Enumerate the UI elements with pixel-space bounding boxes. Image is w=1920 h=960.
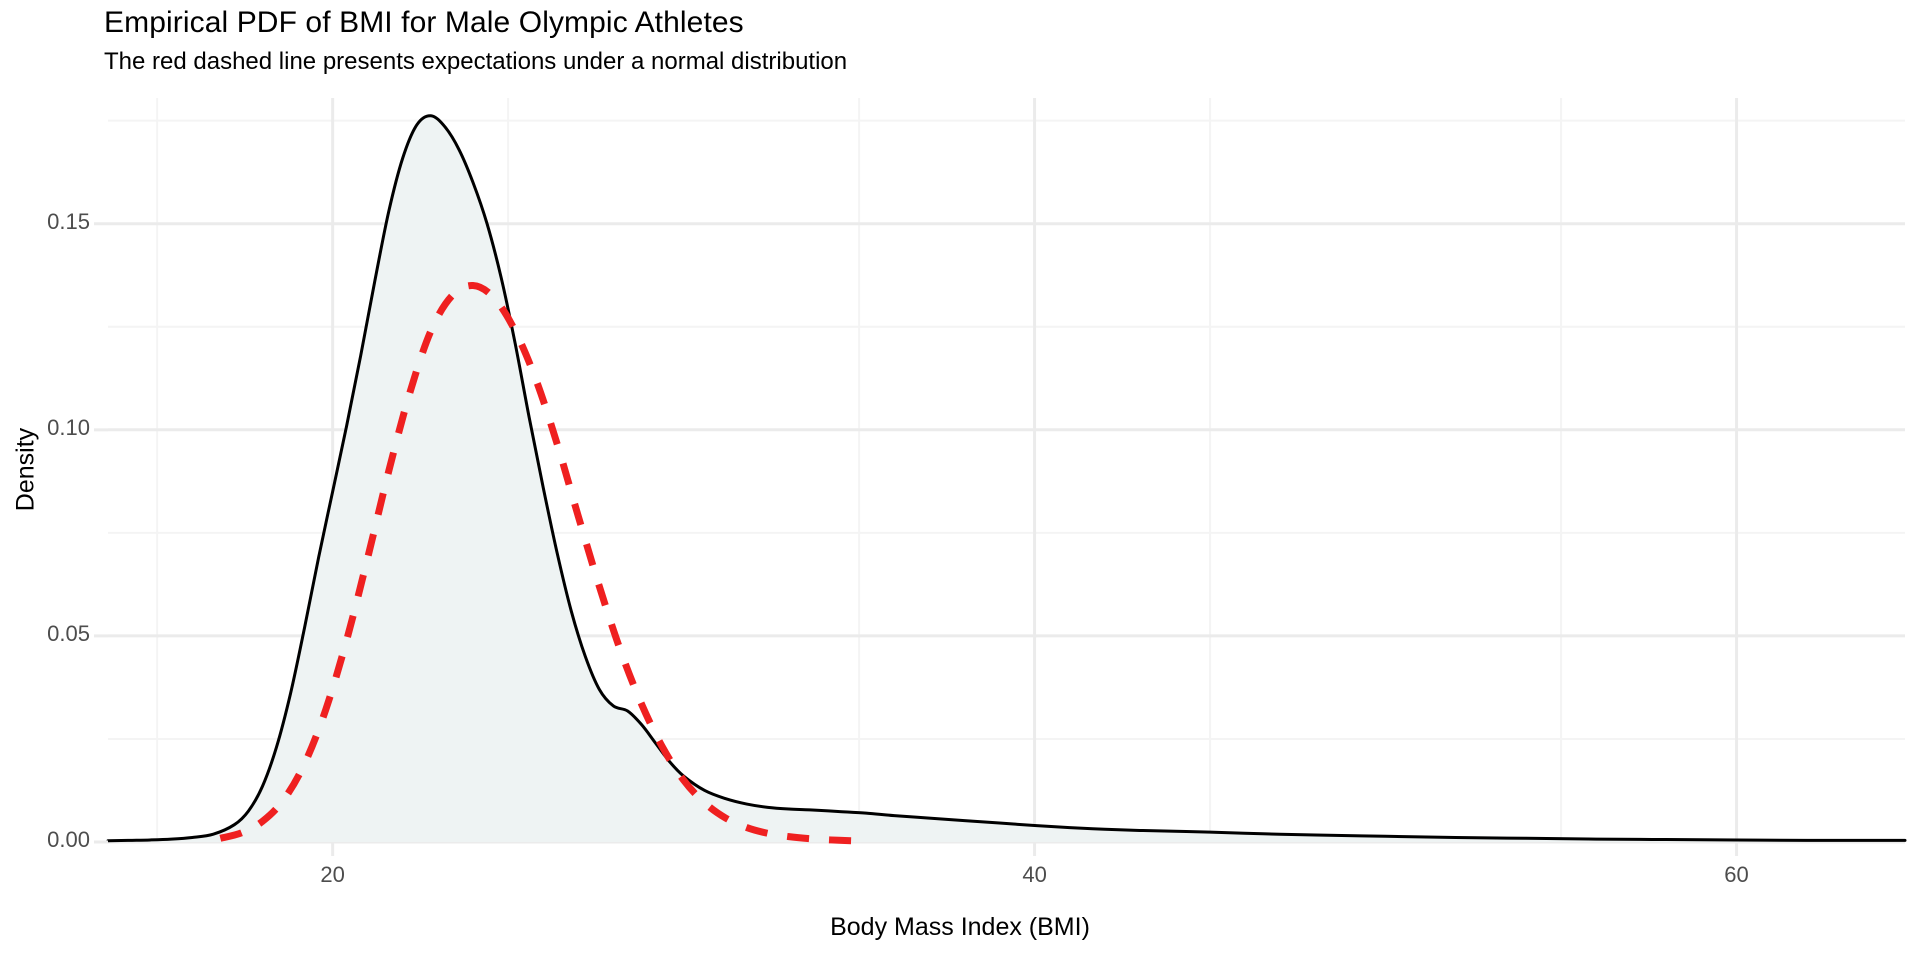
chart-container: Empirical PDF of BMI for Male Olympic At…: [0, 0, 1920, 960]
y-axis-tick-label: 0.15: [0, 209, 90, 235]
x-axis-title: Body Mass Index (BMI): [0, 913, 1920, 942]
y-axis-tick-label: 0.05: [0, 621, 90, 647]
x-axis-tick-label: 40: [990, 862, 1080, 888]
plot-panel: [0, 0, 1920, 960]
y-axis-tick-label: 0.10: [0, 415, 90, 441]
y-axis-tick-label: 0.00: [0, 827, 90, 853]
x-axis-tick-label: 20: [288, 862, 378, 888]
x-axis-tick-label: 60: [1692, 862, 1782, 888]
